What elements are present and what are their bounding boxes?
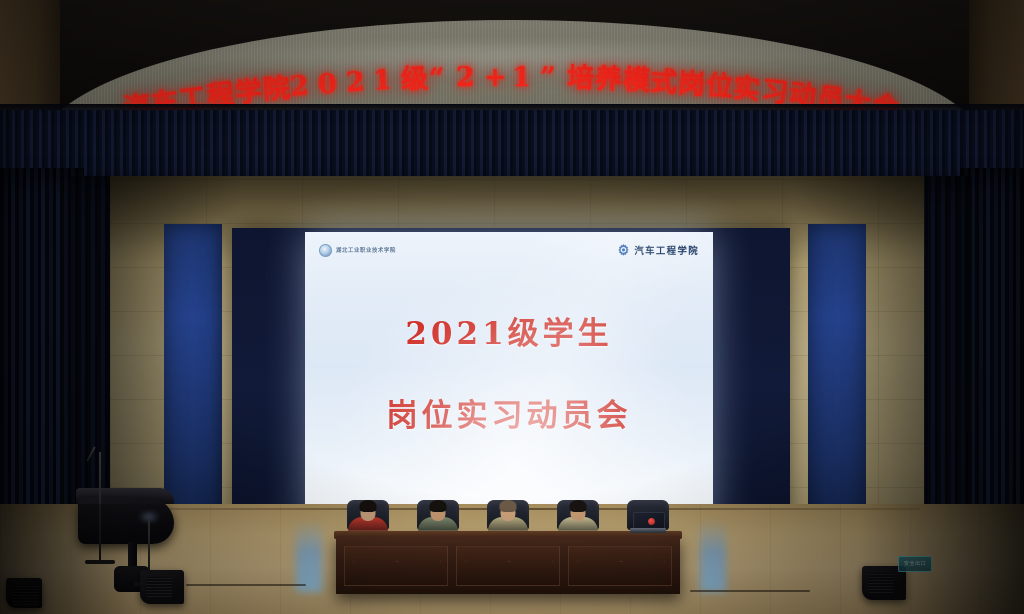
school-logo-label: 湖北工业职业技术学院	[336, 246, 396, 254]
led-banner-char: 位	[705, 72, 734, 101]
led-banner-char: 实	[732, 75, 761, 104]
department-logo-label: 汽车工程学院	[634, 243, 699, 257]
led-banner-char: 培	[567, 65, 595, 93]
gear-icon	[616, 243, 631, 258]
slide-header: 湖北工业职业技术学院 汽车工程学院	[305, 238, 713, 262]
slide-projector-glare	[305, 232, 713, 532]
led-banner-char: 2	[456, 64, 475, 91]
acoustic-panel-right	[808, 224, 866, 534]
led-banner-char: ”	[539, 64, 555, 91]
led-banner-char: 2	[345, 68, 365, 96]
slide-title-line-1: 2021级学生	[305, 308, 713, 353]
led-banner-char: 0	[317, 70, 338, 98]
department-logo: 汽车工程学院	[616, 243, 699, 258]
led-banner-char: 2	[289, 73, 310, 101]
led-banner-char: 岗	[677, 70, 706, 99]
school-logo: 湖北工业职业技术学院	[319, 244, 396, 257]
led-banner-char: 养	[594, 66, 622, 94]
led-banner-char: +	[484, 64, 507, 91]
led-banner-char: 式	[650, 68, 679, 97]
auditorium-photo: 汽车工程学院2021级“2+1”培养模式岗位实习动员大会 湖北工业职业技术学院	[0, 0, 1024, 614]
floor-shading	[0, 504, 1024, 614]
led-banner-char: 习	[760, 78, 790, 108]
led-banner-char: “	[428, 65, 444, 92]
slide-title-line-2: 岗位实习动员会	[305, 390, 713, 435]
led-banner-char: 院	[261, 75, 290, 104]
led-banner-char: 1	[373, 67, 393, 95]
acoustic-panel-left	[164, 224, 222, 534]
school-emblem-icon	[319, 244, 332, 257]
presentation-slide: 湖北工业职业技术学院 汽车工程学院 2021级学生 岗位实习动员会	[305, 232, 713, 532]
led-banner-char: 级	[401, 66, 429, 94]
led-banner-char: 模	[622, 67, 650, 95]
led-banner-char: 1	[512, 64, 531, 91]
led-banner-char: 学	[233, 78, 263, 108]
